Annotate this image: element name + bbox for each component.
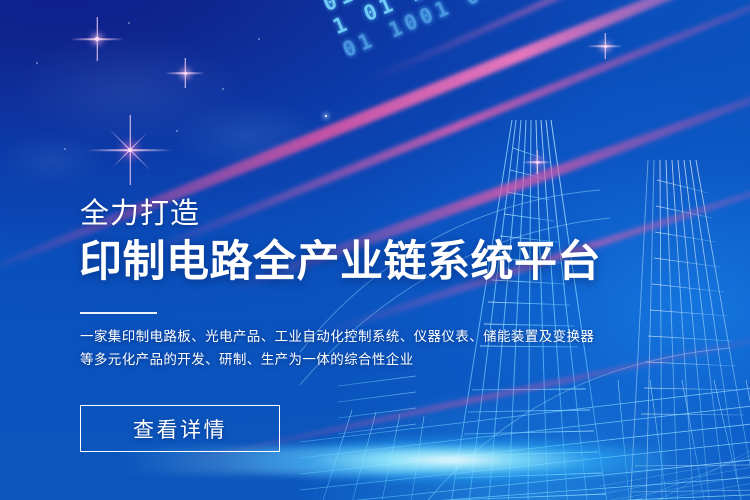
hero-banner: 01 1001 01 1001 01 1 001 0 1 001 01 1001… bbox=[0, 0, 750, 500]
banner-eyebrow: 全力打造 bbox=[80, 196, 200, 232]
description-line-1: 一家集印制电路板、光电产品、工业自动化控制系统、仪器仪表、储能装置及变换器 bbox=[80, 325, 600, 348]
banner-content: 全力打造 印制电路全产业链系统平台 一家集印制电路板、光电产品、工业自动化控制系… bbox=[0, 0, 750, 500]
title-divider bbox=[80, 312, 157, 314]
banner-headline: 印制电路全产业链系统平台 bbox=[79, 236, 601, 288]
view-details-button[interactable]: 查看详情 bbox=[80, 405, 280, 452]
banner-description: 一家集印制电路板、光电产品、工业自动化控制系统、仪器仪表、储能装置及变换器 等多… bbox=[80, 325, 600, 371]
description-line-2: 等多元化产品的开发、研制、生产为一体的综合性企业 bbox=[80, 348, 600, 371]
